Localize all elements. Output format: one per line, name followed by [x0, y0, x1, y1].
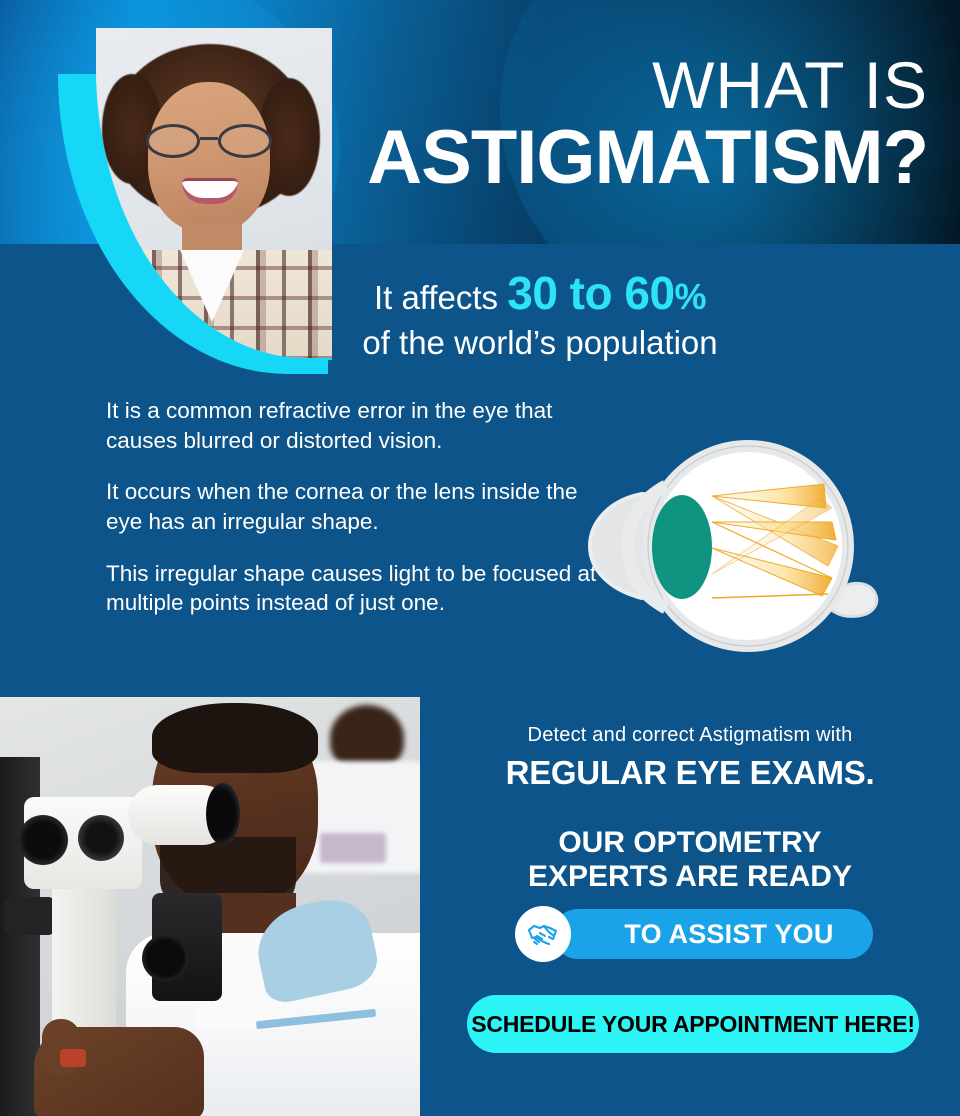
description-paragraphs: It is a common refractive error in the e… [106, 396, 606, 618]
assist-label: TO ASSIST YOU [585, 909, 873, 959]
cta-text-block: Detect and correct Astigmatism with REGU… [440, 724, 940, 893]
glasses-bridge [200, 137, 218, 140]
glasses-right-lens [218, 124, 272, 158]
slit-lamp-stand-knob [4, 897, 56, 935]
eye-diagram-svg [570, 418, 900, 653]
description-paragraph-2: It occurs when the cornea or the lens in… [106, 477, 606, 536]
hero-portrait-photo [96, 28, 332, 358]
cta-headline: REGULAR EYE EXAMS. [440, 754, 940, 792]
statistic-percent: % [675, 276, 707, 317]
background-colleague-clipboard [320, 833, 386, 863]
description-paragraph-1: It is a common refractive error in the e… [106, 396, 606, 455]
slit-lamp-objective-lens [18, 815, 68, 865]
assist-badge[interactable]: TO ASSIST YOU [515, 906, 875, 962]
schedule-appointment-button[interactable]: SCHEDULE YOUR APPOINTMENT HERE! [467, 995, 919, 1053]
clinic-photo [0, 697, 420, 1116]
portrait-glasses [146, 124, 272, 158]
cta-subheadline-line-2: EXPERTS ARE READY [528, 860, 852, 893]
cta-subheadline: OUR OPTOMETRY EXPERTS ARE READY [440, 826, 940, 893]
statistic-value: 30 to 60 [507, 267, 674, 319]
slit-lamp-dial [78, 815, 124, 861]
title-line-2: ASTIGMATISM? [367, 120, 928, 196]
description-paragraph-3: This irregular shape causes light to be … [106, 559, 606, 618]
glasses-left-lens [146, 124, 200, 158]
lens [652, 495, 712, 599]
slit-lamp-red-knob [60, 1049, 86, 1067]
cta-pre-text: Detect and correct Astigmatism with [440, 724, 940, 747]
optometrist-hair [152, 703, 318, 773]
page-title: WHAT IS ASTIGMATISM? [367, 52, 928, 196]
handshake-icon [515, 906, 571, 962]
cta-subheadline-line-1: OUR OPTOMETRY [558, 826, 821, 859]
title-line-1: WHAT IS [367, 52, 928, 118]
slit-lamp-camera-lens [142, 935, 188, 981]
eye-diagram [570, 418, 900, 653]
handshake-icon-svg [523, 914, 563, 954]
hero-photo-zone [0, 0, 400, 380]
slit-lamp-eyepiece [206, 783, 240, 845]
